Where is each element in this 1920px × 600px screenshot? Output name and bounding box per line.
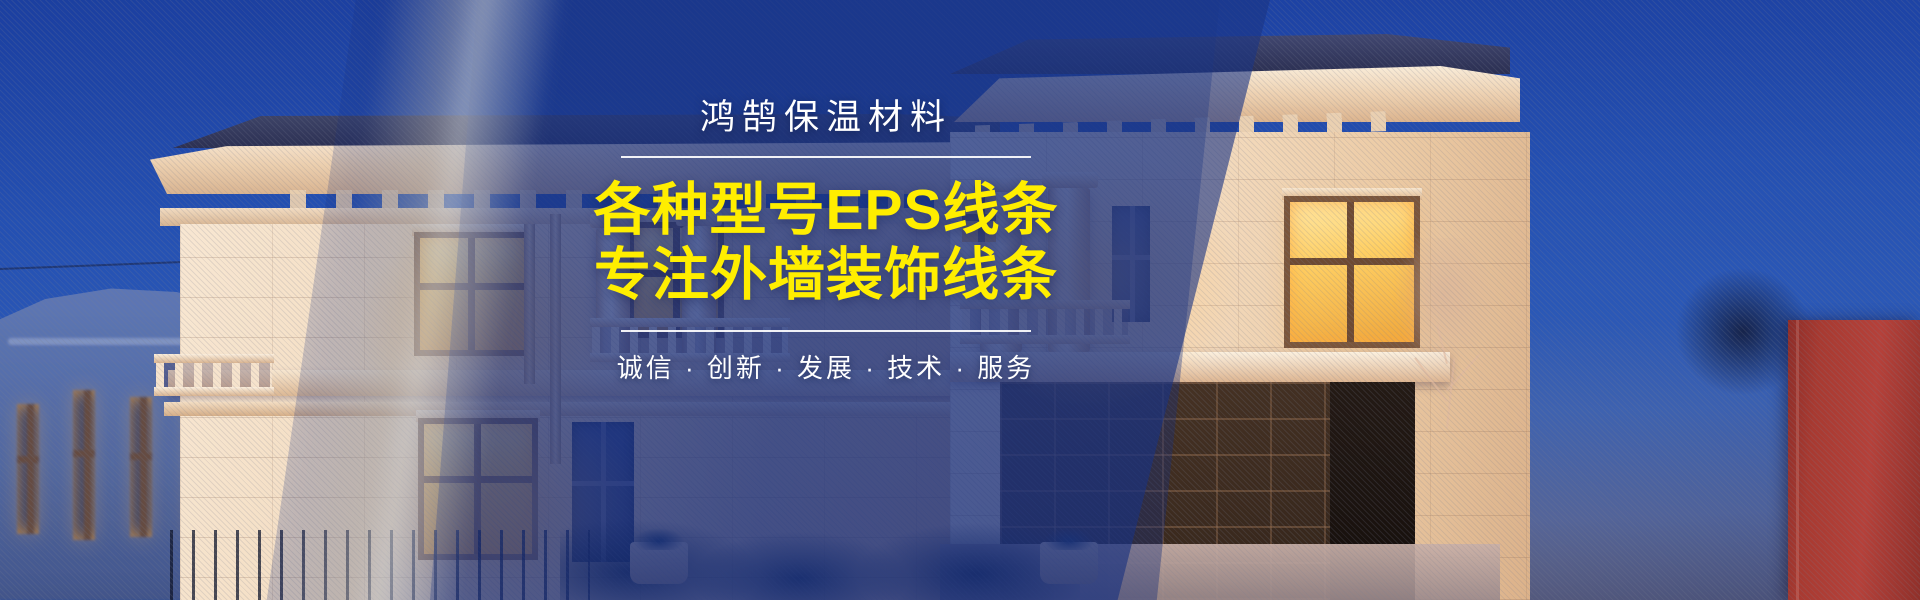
iron-fence [170, 530, 590, 600]
balustrade-posts [156, 363, 272, 387]
balustrade-rail [154, 387, 274, 396]
planter [1040, 542, 1098, 584]
divider-top [621, 156, 1031, 158]
tagline: 诚信 · 创新 · 发展 · 技术 · 服务 [556, 348, 1096, 385]
balustrade [154, 354, 274, 396]
divider-bottom [621, 330, 1031, 332]
distant-window [73, 390, 95, 540]
brand-name: 鸿鹄保温材料 [556, 96, 1096, 140]
distant-window [17, 404, 39, 534]
banner-copy: 鸿鹄保温材料 各种型号EPS线条 专注外墙装饰线条 诚信 · 创新 · 发展 ·… [556, 96, 1096, 385]
bare-tree [1396, 238, 1516, 428]
window-frame [414, 232, 530, 356]
facade-band [164, 402, 1000, 416]
balustrade-rail [154, 354, 274, 363]
downspout [524, 224, 535, 384]
branch [1446, 358, 1455, 428]
red-wall [1788, 320, 1920, 600]
hero-banner[interactable]: 鸿鹄保温材料 各种型号EPS线条 专注外墙装饰线条 诚信 · 创新 · 发展 ·… [0, 0, 1920, 600]
headline: 各种型号EPS线条 专注外墙装饰线条 [556, 178, 1096, 308]
headline-line-2: 专注外墙装饰线条 [556, 243, 1096, 308]
branch [1414, 357, 1447, 402]
headline-line-1: 各种型号EPS线条 [556, 178, 1096, 243]
planter [630, 542, 688, 584]
branch [1436, 325, 1448, 364]
